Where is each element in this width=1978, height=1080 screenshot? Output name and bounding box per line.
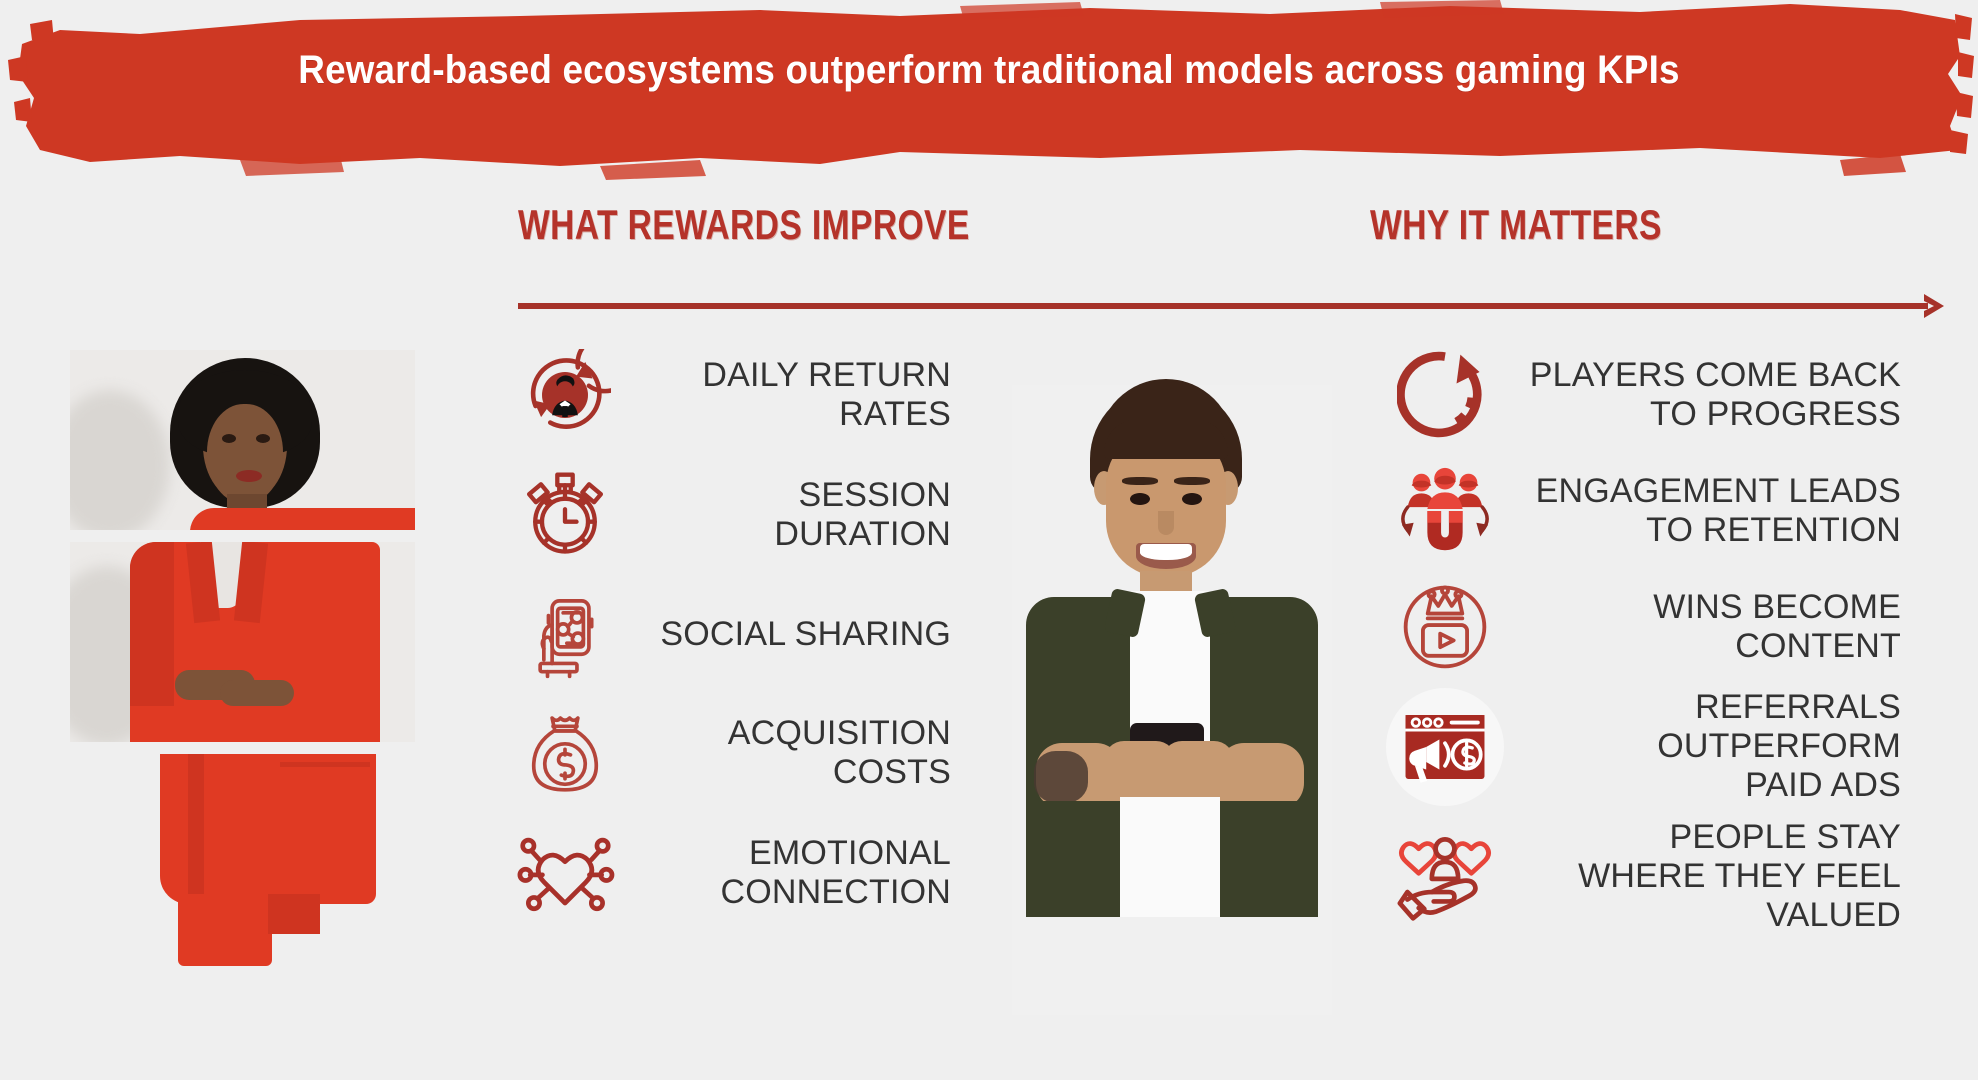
- list-item[interactable]: PEOPLE STAY WHERE THEY FEEL VALUED: [1385, 818, 1915, 935]
- list-item[interactable]: EMOTIONAL CONNECTION: [505, 818, 965, 928]
- heart-network-icon: [505, 818, 625, 928]
- list-item[interactable]: SESSION DURATION: [505, 460, 965, 570]
- list-item[interactable]: DAILY RETURN RATES: [505, 340, 965, 450]
- woman-in-red-suit-photo: [70, 350, 415, 1010]
- list-item-label: DAILY RETURN RATES: [625, 356, 965, 434]
- hand-heart-person-icon: [1385, 822, 1505, 932]
- money-bag-dollar-icon: [505, 698, 625, 808]
- list-item-label: EMOTIONAL CONNECTION: [625, 834, 965, 912]
- title-banner: Reward-based ecosystems outperform tradi…: [0, 0, 1978, 180]
- list-item[interactable]: ENGAGEMENT LEADS TO RETENTION: [1385, 456, 1915, 566]
- list-item[interactable]: ACQUISITION COSTS: [505, 698, 965, 808]
- arrow-right-icon: [1914, 288, 1950, 324]
- smiling-man-holding-phone-photo: [1012, 385, 1332, 1015]
- column-heading-right: WHY IT MATTERS: [1370, 198, 1930, 252]
- list-item[interactable]: REFERRALS OUTPERFORM PAID ADS: [1385, 688, 1915, 805]
- column-heading-left: WHAT REWARDS IMPROVE: [518, 198, 1078, 252]
- list-item[interactable]: SOCIAL SHARING: [505, 579, 965, 689]
- circular-arrow-icon: [1385, 340, 1505, 450]
- magnet-people-icon: [1385, 456, 1505, 566]
- photo-band-top: [70, 350, 415, 530]
- phone-share-icon: [505, 579, 625, 689]
- list-item-label: ACQUISITION COSTS: [625, 714, 965, 792]
- list-item[interactable]: WINS BECOME CONTENT: [1385, 572, 1915, 682]
- stopwatch-icon: [505, 460, 625, 570]
- list-item-label: REFERRALS OUTPERFORM PAID ADS: [1505, 688, 1915, 805]
- megaphone-browser-icon: [1385, 692, 1505, 802]
- photo-band-middle: [70, 542, 415, 742]
- user-refresh-icon: [505, 340, 625, 450]
- photo-band-bottom: [160, 754, 415, 966]
- banner-title: Reward-based ecosystems outperform tradi…: [79, 48, 1899, 93]
- list-item-label: PEOPLE STAY WHERE THEY FEEL VALUED: [1505, 818, 1915, 935]
- list-item-label: WINS BECOME CONTENT: [1505, 588, 1915, 666]
- divider-line: [518, 303, 1928, 309]
- list-item-label: SOCIAL SHARING: [625, 615, 965, 654]
- crown-video-icon: [1385, 572, 1505, 682]
- list-item-label: ENGAGEMENT LEADS TO RETENTION: [1505, 472, 1915, 550]
- infographic-canvas: Reward-based ecosystems outperform tradi…: [0, 0, 1978, 1080]
- list-item[interactable]: PLAYERS COME BACK TO PROGRESS: [1385, 340, 1915, 450]
- list-item-label: SESSION DURATION: [625, 476, 965, 554]
- list-item-label: PLAYERS COME BACK TO PROGRESS: [1505, 356, 1915, 434]
